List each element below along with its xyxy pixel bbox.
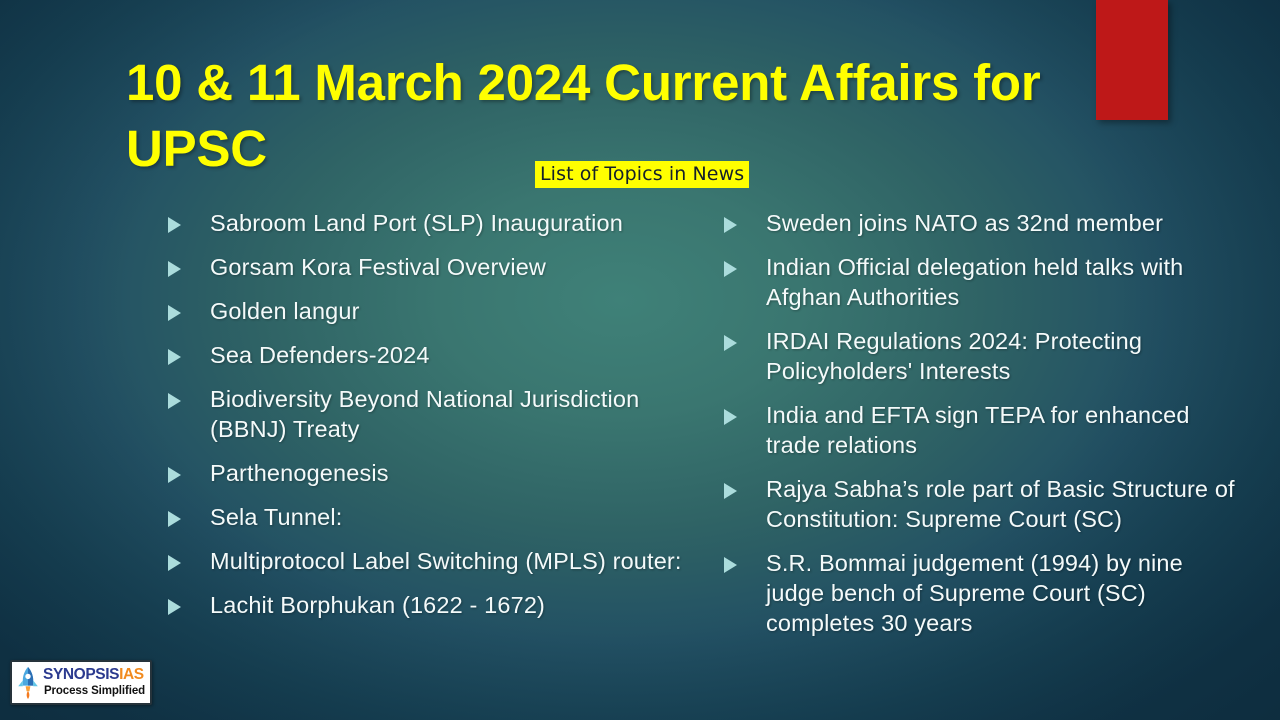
- triangle-bullet-icon: [724, 474, 766, 499]
- triangle-glyph: [168, 511, 181, 527]
- list-item: S.R. Bommai judgement (1994) by nine jud…: [724, 548, 1244, 638]
- list-item: Parthenogenesis: [168, 458, 698, 488]
- list-item: Lachit Borphukan (1622 - 1672): [168, 590, 698, 620]
- list-item: India and EFTA sign TEPA for enhanced tr…: [724, 400, 1244, 460]
- list-item: Biodiversity Beyond National Jurisdictio…: [168, 384, 698, 444]
- list-item: IRDAI Regulations 2024: Protecting Polic…: [724, 326, 1244, 386]
- triangle-glyph: [724, 261, 737, 277]
- list-item-label: Lachit Borphukan (1622 - 1672): [210, 590, 698, 620]
- triangle-bullet-icon: [724, 548, 766, 573]
- logo-word-primary: SYNOPSIS: [43, 666, 119, 683]
- list-item-label: Multiprotocol Label Switching (MPLS) rou…: [210, 546, 698, 576]
- synopsis-ias-logo: SYNOPSISIAS Process Simplified: [10, 660, 152, 705]
- triangle-bullet-icon: [168, 384, 210, 409]
- list-item: Sabroom Land Port (SLP) Inauguration: [168, 208, 698, 238]
- triangle-glyph: [724, 483, 737, 499]
- triangle-bullet-icon: [724, 208, 766, 233]
- triangle-bullet-icon: [168, 252, 210, 277]
- triangle-glyph: [168, 467, 181, 483]
- list-item-label: Sabroom Land Port (SLP) Inauguration: [210, 208, 698, 238]
- triangle-bullet-icon: [168, 546, 210, 571]
- list-item: Golden langur: [168, 296, 698, 326]
- topics-column-left: Sabroom Land Port (SLP) InaugurationGors…: [168, 208, 698, 634]
- list-item: Multiprotocol Label Switching (MPLS) rou…: [168, 546, 698, 576]
- logo-wordmark: SYNOPSISIAS: [43, 666, 144, 683]
- triangle-glyph: [724, 217, 737, 233]
- list-item: Gorsam Kora Festival Overview: [168, 252, 698, 282]
- rocket-icon: [15, 665, 41, 701]
- list-item: Indian Official delegation held talks wi…: [724, 252, 1244, 312]
- list-item-label: IRDAI Regulations 2024: Protecting Polic…: [766, 326, 1244, 386]
- list-item-label: Biodiversity Beyond National Jurisdictio…: [210, 384, 698, 444]
- triangle-bullet-icon: [168, 340, 210, 365]
- list-item: Sela Tunnel:: [168, 502, 698, 532]
- triangle-glyph: [168, 599, 181, 615]
- triangle-bullet-icon: [724, 326, 766, 351]
- triangle-bullet-icon: [724, 400, 766, 425]
- list-item-label: Sela Tunnel:: [210, 502, 698, 532]
- presentation-slide: 10 & 11 March 2024 Current Affairs for U…: [0, 0, 1280, 720]
- triangle-bullet-icon: [168, 590, 210, 615]
- triangle-glyph: [168, 393, 181, 409]
- triangle-glyph: [168, 217, 181, 233]
- subtitle-container: List of Topics in News: [535, 161, 749, 188]
- list-item-label: Gorsam Kora Festival Overview: [210, 252, 698, 282]
- list-item: Sea Defenders-2024: [168, 340, 698, 370]
- triangle-glyph: [724, 409, 737, 425]
- triangle-glyph: [724, 557, 737, 573]
- triangle-bullet-icon: [168, 502, 210, 527]
- triangle-bullet-icon: [724, 252, 766, 277]
- list-item: Sweden joins NATO as 32nd member: [724, 208, 1244, 238]
- triangle-bullet-icon: [168, 458, 210, 483]
- list-item: Rajya Sabha’s role part of Basic Structu…: [724, 474, 1244, 534]
- triangle-glyph: [168, 261, 181, 277]
- list-item-label: Golden langur: [210, 296, 698, 326]
- logo-text: SYNOPSISIAS Process Simplified: [41, 667, 146, 698]
- list-item-label: Indian Official delegation held talks wi…: [766, 252, 1244, 312]
- triangle-glyph: [168, 305, 181, 321]
- triangle-bullet-icon: [168, 208, 210, 233]
- list-item-label: S.R. Bommai judgement (1994) by nine jud…: [766, 548, 1244, 638]
- red-accent-block: [1096, 0, 1168, 120]
- triangle-glyph: [168, 349, 181, 365]
- logo-word-secondary: IAS: [119, 666, 144, 683]
- triangle-glyph: [724, 335, 737, 351]
- list-item-label: Rajya Sabha’s role part of Basic Structu…: [766, 474, 1244, 534]
- list-item-label: Sweden joins NATO as 32nd member: [766, 208, 1244, 238]
- triangle-glyph: [168, 555, 181, 571]
- logo-tagline: Process Simplified: [43, 686, 146, 698]
- list-item-label: India and EFTA sign TEPA for enhanced tr…: [766, 400, 1244, 460]
- triangle-bullet-icon: [168, 296, 210, 321]
- highlighted-subtitle: List of Topics in News: [535, 161, 749, 188]
- topics-column-right: Sweden joins NATO as 32nd memberIndian O…: [724, 208, 1244, 652]
- list-item-label: Parthenogenesis: [210, 458, 698, 488]
- list-item-label: Sea Defenders-2024: [210, 340, 698, 370]
